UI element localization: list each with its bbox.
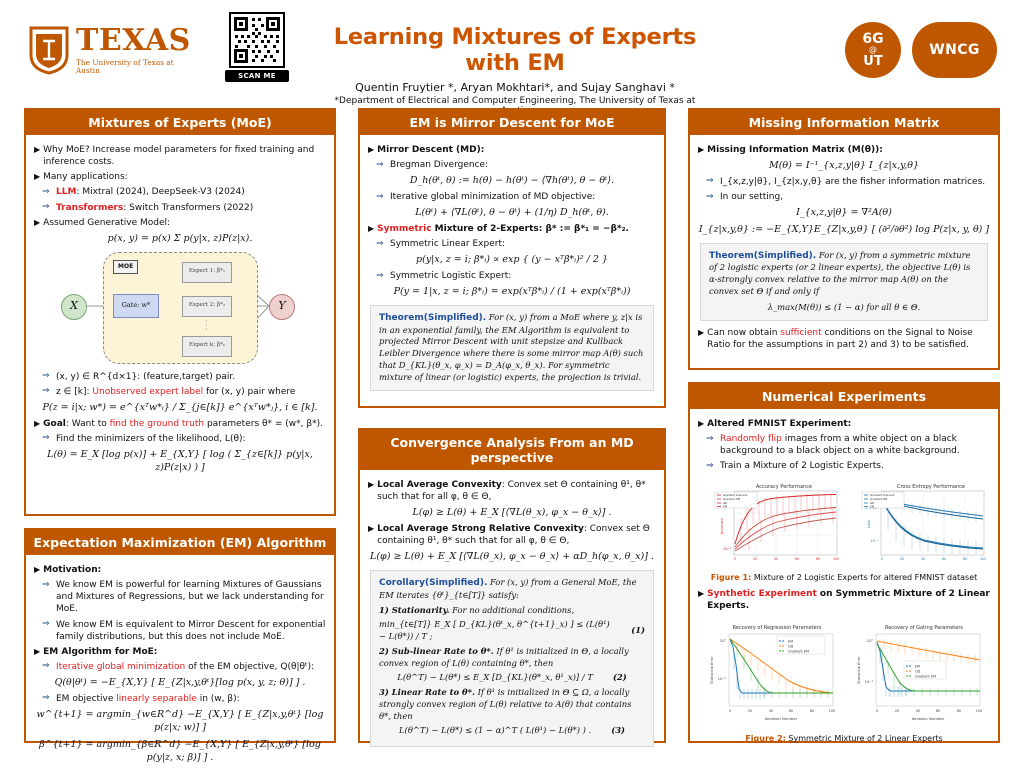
equation-md-objective: L(θᵗ) + ⟨∇L(θᵗ), θ − θᵗ⟩ + (1/η) D_h(θᵗ,… [368, 207, 656, 220]
list-item: ▶ Local Average Strong Relative Convexit… [368, 523, 656, 547]
md-body: ▶ Mirror Descent (MD): ⇒ Bregman Diverge… [360, 135, 664, 400]
bullet-triangle-icon: ▶ [698, 588, 704, 612]
svg-text:Statistical Error: Statistical Error [710, 655, 714, 683]
svg-text:GD: GD [915, 669, 921, 673]
list-item: ⇒ In our setting, [698, 191, 990, 203]
svg-text:80: 80 [957, 709, 961, 713]
svg-text:20: 20 [753, 557, 757, 561]
bullet-triangle-icon: ▶ [368, 479, 374, 503]
em-separable-post: in (w, β): [197, 694, 240, 704]
svg-text:20: 20 [748, 709, 752, 713]
svg-text:Accuracy: Accuracy [720, 516, 724, 533]
node-input-x: X [61, 294, 87, 320]
moe-z-pre: z ∈ [k]: [56, 387, 92, 397]
equation-bregman-divergence: D_h(θᵗ, θ) := h(θ) − h(θᵗ) − ⟨∇h(θᵗ), θ … [368, 175, 656, 188]
bullet-triangle-icon: ▶ [698, 327, 704, 351]
figure-1-text: Mixture of 2 Logistic Experts for altere… [751, 573, 977, 582]
moe-z-post: for (x, y) pair where [203, 387, 295, 397]
bullet-triangle-icon: ▶ [34, 564, 40, 576]
svg-text:40: 40 [769, 709, 773, 713]
svg-text:10⁻¹: 10⁻¹ [718, 676, 727, 681]
moe-bullet-3: Assumed Generative Model: [43, 217, 326, 229]
num-synthetic-red: Synthetic Experiment [707, 589, 817, 599]
svg-text:Recovery of Regression Paramet: Recovery of Regression Parameters [733, 625, 822, 631]
md-heading: EM is Mirror Descent for MoE [360, 110, 664, 135]
ut-shield-icon [28, 25, 70, 75]
ut-austin-logo: TEXAS The University of Texas at Austin [28, 22, 196, 78]
arrow-icon: ⇒ [706, 460, 714, 472]
corollary-box: Corollary(Simplified). For (x, y) from a… [370, 570, 654, 747]
svg-text:Gradient EM: Gradient EM [788, 649, 809, 653]
svg-text:EM: EM [723, 504, 728, 508]
figure-2-charts: Recovery of Regression Parameters 10⁰ 10… [698, 617, 990, 729]
svg-text:60: 60 [942, 557, 946, 561]
arrow-icon: ⇒ [42, 618, 50, 630]
list-item: ⇒ Iterative global minimization of the E… [34, 661, 326, 673]
figure-1-charts: Accuracy Performance 10⁻¹ Accuracy [698, 478, 990, 568]
svg-text:Recovery of Gating Parameters: Recovery of Gating Parameters [885, 625, 963, 631]
arrow-icon: ⇒ [706, 191, 714, 203]
svg-text:Iteration Number: Iteration Number [912, 716, 945, 721]
conv-body: ▶ Local Average Convexity: Convex set Θ … [360, 470, 664, 756]
chart-recovery-gating-parameters: Recovery of Gating Parameters 10⁰ 10⁻¹ S… [846, 617, 989, 729]
svg-text:0: 0 [876, 709, 878, 713]
list-item: ▶ Can now obtain sufficient conditions o… [698, 327, 990, 351]
mim-bullet-1: Missing Information Matrix (M(θ)): [707, 144, 990, 156]
moe-z-red: Unobserved expert label [92, 387, 203, 397]
list-item: ⇒ Iterative global minimization of MD ob… [368, 191, 656, 203]
svg-text:0: 0 [881, 557, 883, 561]
arrow-icon: ⇒ [706, 433, 714, 445]
em-bullet-algorithm: EM Algorithm for MoE: [43, 646, 326, 658]
section-convergence-analysis: Convergence Analysis From an MD perspect… [358, 428, 666, 743]
moe-goal-mid: : Want to [66, 419, 110, 429]
conv-lasrc-label: Local Average Strong Relative Convexity [377, 524, 584, 534]
md-logistic-expert-label: Symmetric Logistic Expert: [390, 271, 511, 281]
list-item: ⇒ LLM: Mixtral (2024), DeepSeek-V3 (2024… [34, 186, 326, 198]
equation-missing-info-matrix: M(θ) = I⁻¹_{x,z,y|θ} I_{z|x,y,θ} [698, 160, 990, 173]
equation-1-number: (1) [631, 625, 645, 637]
moe-bullet-1: Why MoE? Increase model parameters for f… [43, 144, 326, 168]
list-item: ⇒ We know EM is powerful for learning Mi… [34, 579, 326, 615]
moe-minimizers-note: Find the minimizers of the likelihood, L… [56, 434, 246, 444]
equation-2: L(θ^T) − L(θ*) ≤ E_X [D_{KL}(θ*_x, θ¹_x)… [397, 672, 593, 684]
num-bullet-fmnist: Altered FMNIST Experiment: [707, 418, 990, 430]
bullet-triangle-icon: ▶ [34, 418, 40, 430]
svg-text:60: 60 [936, 709, 940, 713]
figure-1-label: Figure 1: [711, 573, 752, 582]
svg-text:10⁰: 10⁰ [867, 638, 874, 643]
svg-text:80: 80 [810, 709, 814, 713]
list-item: ⇒ Transformers: Switch Transformers (202… [34, 202, 326, 214]
list-item: ▶ EM Algorithm for MoE: [34, 646, 326, 658]
num-train-note: Train a Mixture of 2 Logistic Experts. [720, 461, 884, 471]
conv-lac-label: Local Average Convexity [377, 480, 502, 490]
equation-fisher-1: I_{x,z,y|θ} = ∇²A(θ) [698, 207, 990, 220]
theorem-box-mim: Theorem(Simplified). For (x, y) from a s… [700, 243, 988, 321]
svg-text:EM: EM [870, 504, 875, 508]
arrow-icon: ⇒ [42, 432, 50, 444]
equation-w-update: w^{t+1} = argmin_{w∈R^d} −E_{X,Y} [ E_{Z… [34, 709, 326, 735]
moe-app-transformers-rest: : Switch Transformers (2022) [123, 203, 253, 213]
arrow-icon: ⇒ [706, 175, 714, 187]
mim-suff-pre: Can now obtain [707, 328, 780, 338]
md-symmetric-rest: Mixture of 2-Experts: β* := β*₁ = −β*₂. [432, 224, 629, 234]
md-bullet-1: Mirror Descent (MD): [377, 144, 656, 156]
md-linear-expert-label: Symmetric Linear Expert: [390, 239, 505, 249]
corollary-item-3-title: 3) Linear Rate to θ*. [379, 687, 475, 697]
node-expert-k: Expert k: β*ₖ [182, 336, 232, 357]
arrow-icon: ⇒ [42, 201, 50, 213]
svg-text:20: 20 [900, 557, 904, 561]
corollary-title: Corollary(Simplified). [379, 578, 487, 588]
equation-symmetric-logistic-expert: P(y = 1|x, z = i; β*ᵢ) = exp(xᵀβ*ᵢ) / (1… [368, 286, 656, 299]
svg-text:60: 60 [789, 709, 793, 713]
equation-1: min_{t∈[T]} E_X [ D_{KL}(θᵗ_x, θ^{t+1}_x… [379, 619, 611, 643]
list-item: ▶ Mirror Descent (MD): [368, 144, 656, 156]
svg-text:Cross Entropy Performance: Cross Entropy Performance [897, 484, 965, 490]
theorem-title: Theorem(Simplified). [379, 313, 486, 323]
svg-text:10⁻¹: 10⁻¹ [871, 539, 879, 543]
list-item: ⇒ Symmetric Logistic Expert: [368, 270, 656, 282]
equation-local-average-convexity: L(φ) ≥ L(θ) + E_X [⟨∇L(θ_x), φ_x − θ_x⟩]… [368, 507, 656, 520]
wncg-logo: WNCG [912, 22, 997, 78]
arrow-icon: ⇒ [42, 660, 50, 672]
page-title: Learning Mixtures of Experts with EM [330, 24, 700, 76]
em-motivation-2: We know EM is equivalent to Mirror Desce… [56, 620, 325, 642]
6g-logo-line3: UT [863, 55, 882, 69]
list-item: ▶ Local Average Convexity: Convex set Θ … [368, 479, 656, 503]
mim-setting-note: In our setting, [720, 192, 783, 202]
svg-text:60: 60 [795, 557, 799, 561]
list-item: ⇒ Find the minimizers of the likelihood,… [34, 433, 326, 445]
moe-bullet-2: Many applications: [43, 171, 326, 183]
svg-text:10⁻¹: 10⁻¹ [723, 547, 731, 551]
svg-text:0: 0 [729, 709, 731, 713]
arrow-icon: ⇒ [42, 186, 50, 198]
chart-cross-entropy-performance: Cross Entropy Performance 1 × 10⁰ 10⁻¹ L… [846, 478, 989, 568]
bullet-triangle-icon: ▶ [34, 171, 40, 183]
svg-text:Iteration Number: Iteration Number [765, 716, 798, 721]
svg-text:100: 100 [980, 557, 986, 561]
equation-em-objective: Q(θ|θᵗ) = −E_{X,Y} [ E_{Z|x,y,θᵗ}[log p(… [34, 677, 326, 690]
section-em-algorithm: Expectation Maximization (EM) Algorithm … [24, 528, 336, 743]
md-objective-label: Iterative global minimization of MD obje… [390, 192, 595, 202]
mim-fisher-note: I_{x,z,y|θ}, I_{z|x,y,θ} are the fisher … [720, 177, 985, 187]
moe-heading: Mixtures of Experts (MoE) [26, 110, 334, 135]
corollary-item-2-title: 2) Sub-linear Rate to θ*. [379, 646, 494, 656]
list-item: ▶ Motivation: [34, 564, 326, 576]
node-expert-2: Expert 2: β*₂ [182, 296, 232, 317]
arrow-icon: ⇒ [42, 579, 50, 591]
svg-text:EM: EM [788, 639, 793, 643]
corollary-item-1-title: 1) Stationarity. [379, 605, 449, 615]
list-item: ⇒ (x, y) ∈ R^{d×1}: (feature,target) pai… [34, 371, 326, 383]
moe-architecture-diagram: MOE X Gate: w* Expert 1: β*₁ Expert 2: β… [55, 250, 305, 368]
svg-text:Statistical Error: Statistical Error [857, 655, 861, 683]
section-numerical-experiments: Numerical Experiments ▶ Altered FMNIST E… [688, 382, 1000, 743]
poster-root: TEXAS The University of Texas at Austin [0, 0, 1024, 768]
equation-2-number: (2) [613, 672, 627, 684]
mim-suff-red: sufficient [780, 328, 821, 338]
equation-beta-update: β^{t+1} = argmin_{β∈R^d} −E_{X,Y} [ E_{Z… [34, 739, 326, 765]
arrow-icon: ⇒ [376, 238, 384, 250]
arrow-icon: ⇒ [376, 159, 384, 171]
qr-scan-label: SCAN ME [225, 70, 289, 82]
moe-app-llm-key: LLM [56, 187, 76, 197]
em-separable-pre: EM objective [56, 694, 116, 704]
list-item: ⇒ EM objective linearly separable in (w,… [34, 693, 326, 705]
list-item: ⇒ Train a Mixture of 2 Logistic Experts. [698, 460, 990, 472]
node-output-y: Y [269, 294, 295, 320]
list-item: ⇒ Bregman Divergence: [368, 159, 656, 171]
bullet-triangle-icon: ▶ [34, 646, 40, 658]
em-motivation-1: We know EM is powerful for learning Mixt… [56, 580, 324, 614]
svg-text:Gradient EM: Gradient EM [915, 674, 936, 678]
vertical-ellipsis-icon: ··· [205, 320, 208, 333]
figure-2-text: Symmetric Mixture of 2 Linear Experts [786, 734, 943, 743]
em-iterative-red: Iterative global minimization [56, 662, 185, 672]
node-gate: Gate: w* [113, 294, 159, 318]
em-separable-red: linearly separable [116, 694, 197, 704]
list-item: ▶ Symmetric Mixture of 2-Experts: β* := … [368, 223, 656, 235]
num-heading: Numerical Experiments [690, 384, 998, 409]
svg-text:100: 100 [829, 709, 835, 713]
svg-text:10⁰: 10⁰ [720, 638, 727, 643]
arrow-icon: ⇒ [42, 692, 50, 704]
list-item: ⇒ Symmetric Linear Expert: [368, 238, 656, 250]
svg-text:40: 40 [916, 709, 920, 713]
section-missing-information-matrix: Missing Information Matrix ▶ Missing Inf… [688, 108, 1000, 370]
arrow-icon: ⇒ [376, 191, 384, 203]
moe-feature-target-note: (x, y) ∈ R^{d×1}: (feature,target) pair. [56, 372, 235, 382]
qr-code-icon[interactable] [229, 12, 285, 68]
list-item: ▶ Why MoE? Increase model parameters for… [34, 144, 326, 168]
moe-app-llm-rest: : Mixtral (2024), DeepSeek-V3 (2024) [76, 187, 244, 197]
svg-text:80: 80 [816, 557, 820, 561]
svg-text:100: 100 [833, 557, 839, 561]
equation-softmax-gate: P(z = i|x; w*) = e^{xᵀw*ᵢ} / Σ_{j∈[k]} e… [34, 402, 326, 415]
bullet-triangle-icon: ▶ [34, 144, 40, 168]
node-expert-1: Expert 1: β*₁ [182, 262, 232, 283]
bullet-triangle-icon: ▶ [698, 418, 704, 430]
em-body: ▶ Motivation: ⇒ We know EM is powerful f… [26, 555, 334, 774]
moe-body: ▶ Why MoE? Increase model parameters for… [26, 135, 334, 485]
author-list: Quentin Fruytier *, Aryan Mokhtari*, and… [330, 81, 700, 94]
list-item: ▶ Synthetic Experiment on Symmetric Mixt… [698, 588, 990, 612]
moe-tag-label: MOE [113, 260, 138, 274]
figure-2-caption: Figure 2: Symmetric Mixture of 2 Linear … [698, 734, 990, 745]
svg-text:100: 100 [976, 709, 982, 713]
equation-generative-model: p(x, y) = p(x) Σ p(y|x, z)P(z|x). [34, 233, 326, 246]
bullet-triangle-icon: ▶ [368, 523, 374, 547]
theorem-title: Theorem(Simplified). [709, 251, 816, 261]
list-item: ▶ Assumed Generative Model: [34, 217, 326, 229]
section-mixtures-of-experts: Mixtures of Experts (MoE) ▶ Why MoE? Inc… [24, 108, 336, 516]
list-item: ▶ Many applications: [34, 171, 326, 183]
theorem-box-md: Theorem(Simplified). For (x, y) from a M… [370, 305, 654, 390]
equation-fisher-2: I_{z|x,y,θ} := −E_{X,Y}E_{Z|x,y,θ} [ (∂²… [698, 224, 990, 237]
em-iterative-rest: of the EM objective, Q(θ|θᵗ): [185, 662, 314, 672]
svg-text:GD: GD [788, 644, 794, 648]
chart-accuracy-performance: Accuracy Performance 10⁻¹ Accuracy [699, 478, 842, 568]
svg-text:Accuracy Performance: Accuracy Performance [756, 484, 812, 490]
arrow-icon: ⇒ [376, 270, 384, 282]
equation-likelihood: L(θ) = E_X [log p(x)] + E_{X,Y} [ log ( … [34, 449, 326, 475]
md-symmetric-red: Symmetric [377, 224, 431, 234]
figure-2-label: Figure 2: [745, 734, 786, 743]
moe-goal-red: find the ground truth [110, 419, 204, 429]
section-em-is-mirror-descent: EM is Mirror Descent for MoE ▶ Mirror De… [358, 108, 666, 408]
num-flip-red: Randomly flip [720, 434, 782, 444]
arrow-icon: ⇒ [42, 385, 50, 397]
svg-text:80: 80 [963, 557, 967, 561]
bullet-triangle-icon: ▶ [698, 144, 704, 156]
moe-goal-label: Goal [43, 419, 66, 429]
conv-heading: Convergence Analysis From an MD perspect… [360, 430, 664, 470]
ut-wordmark: TEXAS [76, 26, 196, 56]
theorem-equation: λ_max(M(θ)) ≤ (1 − α) for all θ ∈ Θ. [709, 302, 979, 314]
chart-recovery-regression-parameters: Recovery of Regression Parameters 10⁰ 10… [699, 617, 842, 729]
svg-text:40: 40 [921, 557, 925, 561]
6g-ut-logo: 6G @ UT [845, 22, 901, 78]
svg-text:20: 20 [895, 709, 899, 713]
title-block: Learning Mixtures of Experts with EM Que… [330, 24, 700, 116]
moe-goal-post: parameters θ* = (w*, β*). [204, 419, 323, 429]
6g-logo-line1: 6G [862, 32, 883, 47]
ut-subtitle: The University of Texas at Austin [76, 59, 196, 73]
arrow-icon: ⇒ [42, 370, 50, 382]
equation-3-number: (3) [611, 725, 625, 737]
num-body: ▶ Altered FMNIST Experiment: ⇒ Randomly … [690, 409, 998, 752]
list-item: ▶ Altered FMNIST Experiment: [698, 418, 990, 430]
bullet-triangle-icon: ▶ [368, 223, 374, 235]
list-item: ⇒ z ∈ [k]: Unobserved expert label for (… [34, 386, 326, 398]
moe-app-transformers-key: Transformers [56, 203, 123, 213]
equation-local-avg-strong-rel-convexity: L(φ) ≥ L(θ) + E_X [⟨∇L(θ_x), φ_x − θ_x⟩ … [368, 551, 656, 564]
mim-heading: Missing Information Matrix [690, 110, 998, 135]
qr-code-block[interactable]: SCAN ME [225, 12, 289, 82]
list-item: ▶ Missing Information Matrix (M(θ)): [698, 144, 990, 156]
svg-text:EM: EM [915, 664, 920, 668]
bullet-triangle-icon: ▶ [34, 217, 40, 229]
svg-text:40: 40 [774, 557, 778, 561]
bullet-triangle-icon: ▶ [368, 144, 374, 156]
corollary-item-1-body: For no additional conditions, [449, 605, 574, 615]
list-item: ⇒ I_{x,z,y|θ}, I_{z|x,y,θ} are the fishe… [698, 176, 990, 188]
list-item: ▶ Goal: Want to find the ground truth pa… [34, 418, 326, 430]
list-item: ⇒ Randomly flip images from a white obje… [698, 433, 990, 457]
em-heading: Expectation Maximization (EM) Algorithm [26, 530, 334, 555]
list-item: ⇒ We know EM is equivalent to Mirror Des… [34, 619, 326, 643]
figure-1-caption: Figure 1: Mixture of 2 Logistic Experts … [698, 573, 990, 584]
equation-symmetric-linear-expert: p(y|x, z = i; β*ᵢ) ∝ exp { (y − xᵀβ*ᵢ)² … [368, 254, 656, 267]
svg-text:Loss: Loss [867, 519, 871, 527]
equation-3: L(θ^T) − L(θ*) ≤ (1 − α)^T ( L(θ¹) − L(θ… [399, 725, 591, 737]
mim-body: ▶ Missing Information Matrix (M(θ)): M(θ… [690, 135, 998, 358]
md-bregman-label: Bregman Divergence: [390, 160, 488, 170]
em-bullet-motivation: Motivation: [43, 564, 326, 576]
svg-text:10⁻¹: 10⁻¹ [865, 679, 874, 684]
svg-text:0: 0 [734, 557, 736, 561]
poster-header: TEXAS The University of Texas at Austin [0, 0, 1024, 100]
